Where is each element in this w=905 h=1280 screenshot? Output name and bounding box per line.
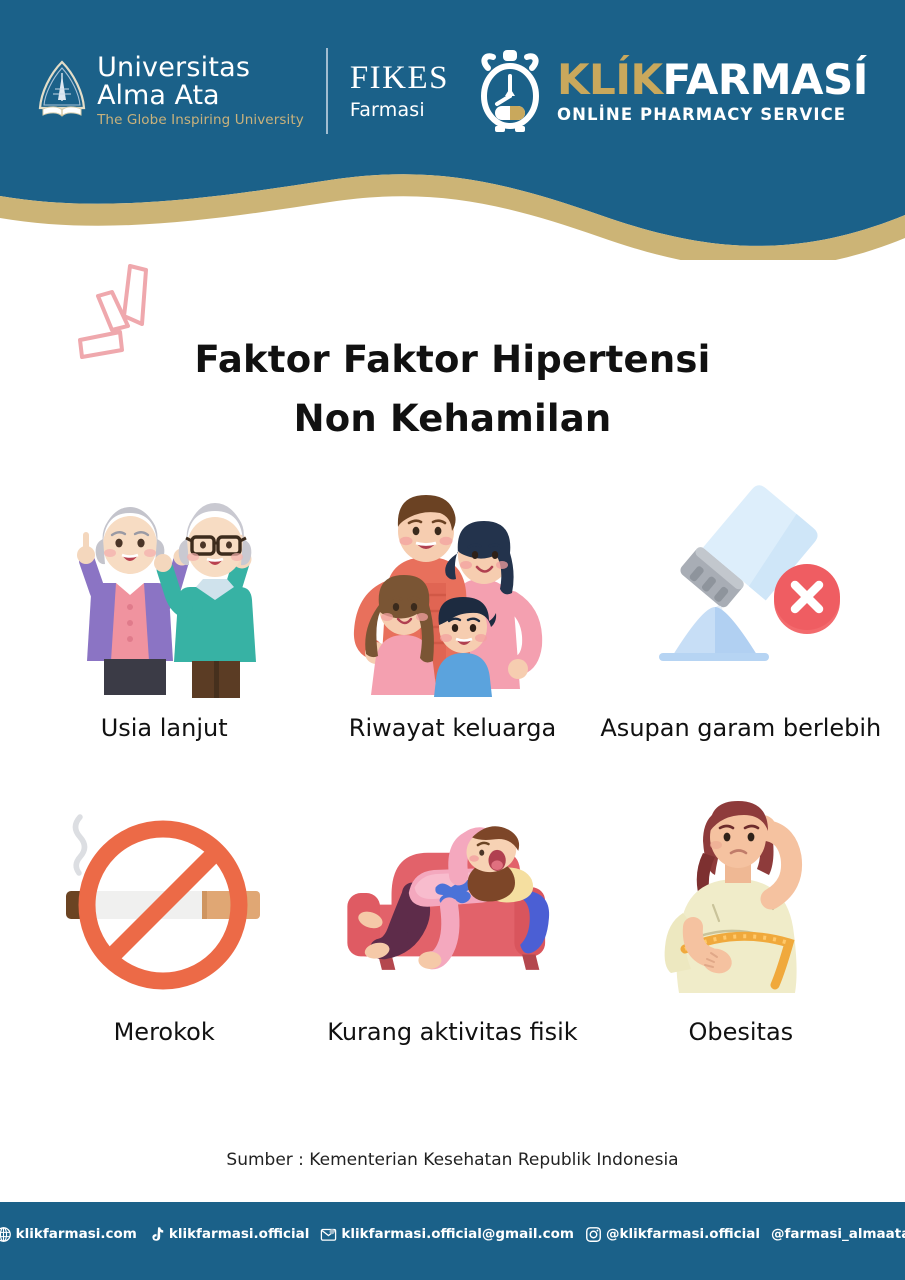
factor-card-obesitas: Obesitas — [597, 772, 885, 1046]
tiktok-icon — [148, 1226, 165, 1243]
factor-card-merokok: Merokok — [20, 772, 308, 1046]
woman-lying-on-sofa-illustration — [332, 772, 572, 1002]
family-of-four-illustration — [332, 468, 572, 698]
instagram-icon — [585, 1226, 602, 1243]
factor-label: Obesitas — [688, 1018, 793, 1046]
source-note: Sumber : Kementerian Kesehatan Republik … — [0, 1150, 905, 1170]
factor-card-asupan-garam: Asupan garam berlebih — [597, 468, 885, 742]
factors-grid: Usia lanjut — [20, 468, 885, 1046]
woman-measuring-waist-illustration — [621, 772, 861, 1002]
footer-item-instagram-alt[interactable]: @farmasi_almaata — [771, 1226, 905, 1242]
header-logo-row: Universitas Alma Ata The Globe Inspiring… — [0, 36, 905, 146]
factor-card-kurang-aktivitas: Kurang aktivitas fisik — [308, 772, 596, 1046]
faculty-department: Farmasi — [350, 99, 425, 121]
brand-word-farmasi: FARMASÍ — [663, 55, 868, 104]
poster-title: Faktor Faktor Hipertensi Non Kehamilan — [0, 330, 905, 448]
brand-logo-block: KLÍKFARMASÍ ONLİNE PHARMACY SERVICE — [475, 48, 868, 134]
footer-label: klikfarmasi.official — [169, 1226, 310, 1242]
email-icon — [320, 1226, 337, 1243]
no-smoking-cigarette-illustration — [44, 772, 284, 1002]
factor-card-riwayat-keluarga: Riwayat keluarga — [308, 468, 596, 742]
globe-icon — [0, 1226, 12, 1243]
title-line-2: Non Kehamilan — [0, 389, 905, 448]
footer-contact-row: klikfarmasi.com klikfarmasi.official kli… — [0, 1226, 905, 1257]
title-line-1: Faktor Faktor Hipertensi — [0, 330, 905, 389]
footer-item-email[interactable]: klikfarmasi.official@gmail.com — [320, 1226, 574, 1243]
alarm-clock-pill-icon — [475, 48, 545, 134]
footer-label: klikfarmasi.official@gmail.com — [341, 1226, 574, 1242]
factor-label: Asupan garam berlebih — [600, 714, 881, 742]
footer-item-website[interactable]: klikfarmasi.com — [0, 1226, 137, 1243]
footer-bar: klikfarmasi.com klikfarmasi.official kli… — [0, 1202, 905, 1280]
brand-word-klik: KLÍK — [557, 55, 662, 104]
header-vertical-divider — [326, 48, 328, 134]
header-band: Universitas Alma Ata The Globe Inspiring… — [0, 0, 905, 260]
universitas-alma-ata-crest-icon — [37, 60, 87, 122]
factor-label: Usia lanjut — [101, 714, 228, 742]
university-tagline: The Globe Inspiring University — [97, 114, 304, 128]
footer-item-tiktok[interactable]: klikfarmasi.official — [148, 1226, 310, 1243]
factor-label: Riwayat keluarga — [349, 714, 556, 742]
brand-tagline: ONLİNE PHARMACY SERVICE — [557, 107, 868, 124]
factor-label: Kurang aktivitas fisik — [327, 1018, 577, 1046]
university-logo-block: Universitas Alma Ata The Globe Inspiring… — [37, 54, 326, 128]
footer-label: @klikfarmasi.official — [606, 1226, 760, 1242]
elderly-couple-illustration — [44, 468, 284, 698]
footer-label: @farmasi_almaata — [771, 1226, 905, 1242]
footer-label: klikfarmasi.com — [16, 1226, 137, 1242]
footer-item-instagram[interactable]: @klikfarmasi.official — [585, 1226, 760, 1243]
poster-root: Universitas Alma Ata The Globe Inspiring… — [0, 0, 905, 1280]
university-name-line1: Universitas — [97, 54, 304, 81]
faculty-logo-block: FIKES Farmasi — [350, 62, 475, 121]
salt-shaker-no-symbol-illustration — [621, 468, 861, 698]
university-name-line2: Alma Ata — [97, 82, 304, 109]
faculty-name: FIKES — [350, 62, 449, 95]
factor-card-usia-lanjut: Usia lanjut — [20, 468, 308, 742]
factor-label: Merokok — [114, 1018, 215, 1046]
